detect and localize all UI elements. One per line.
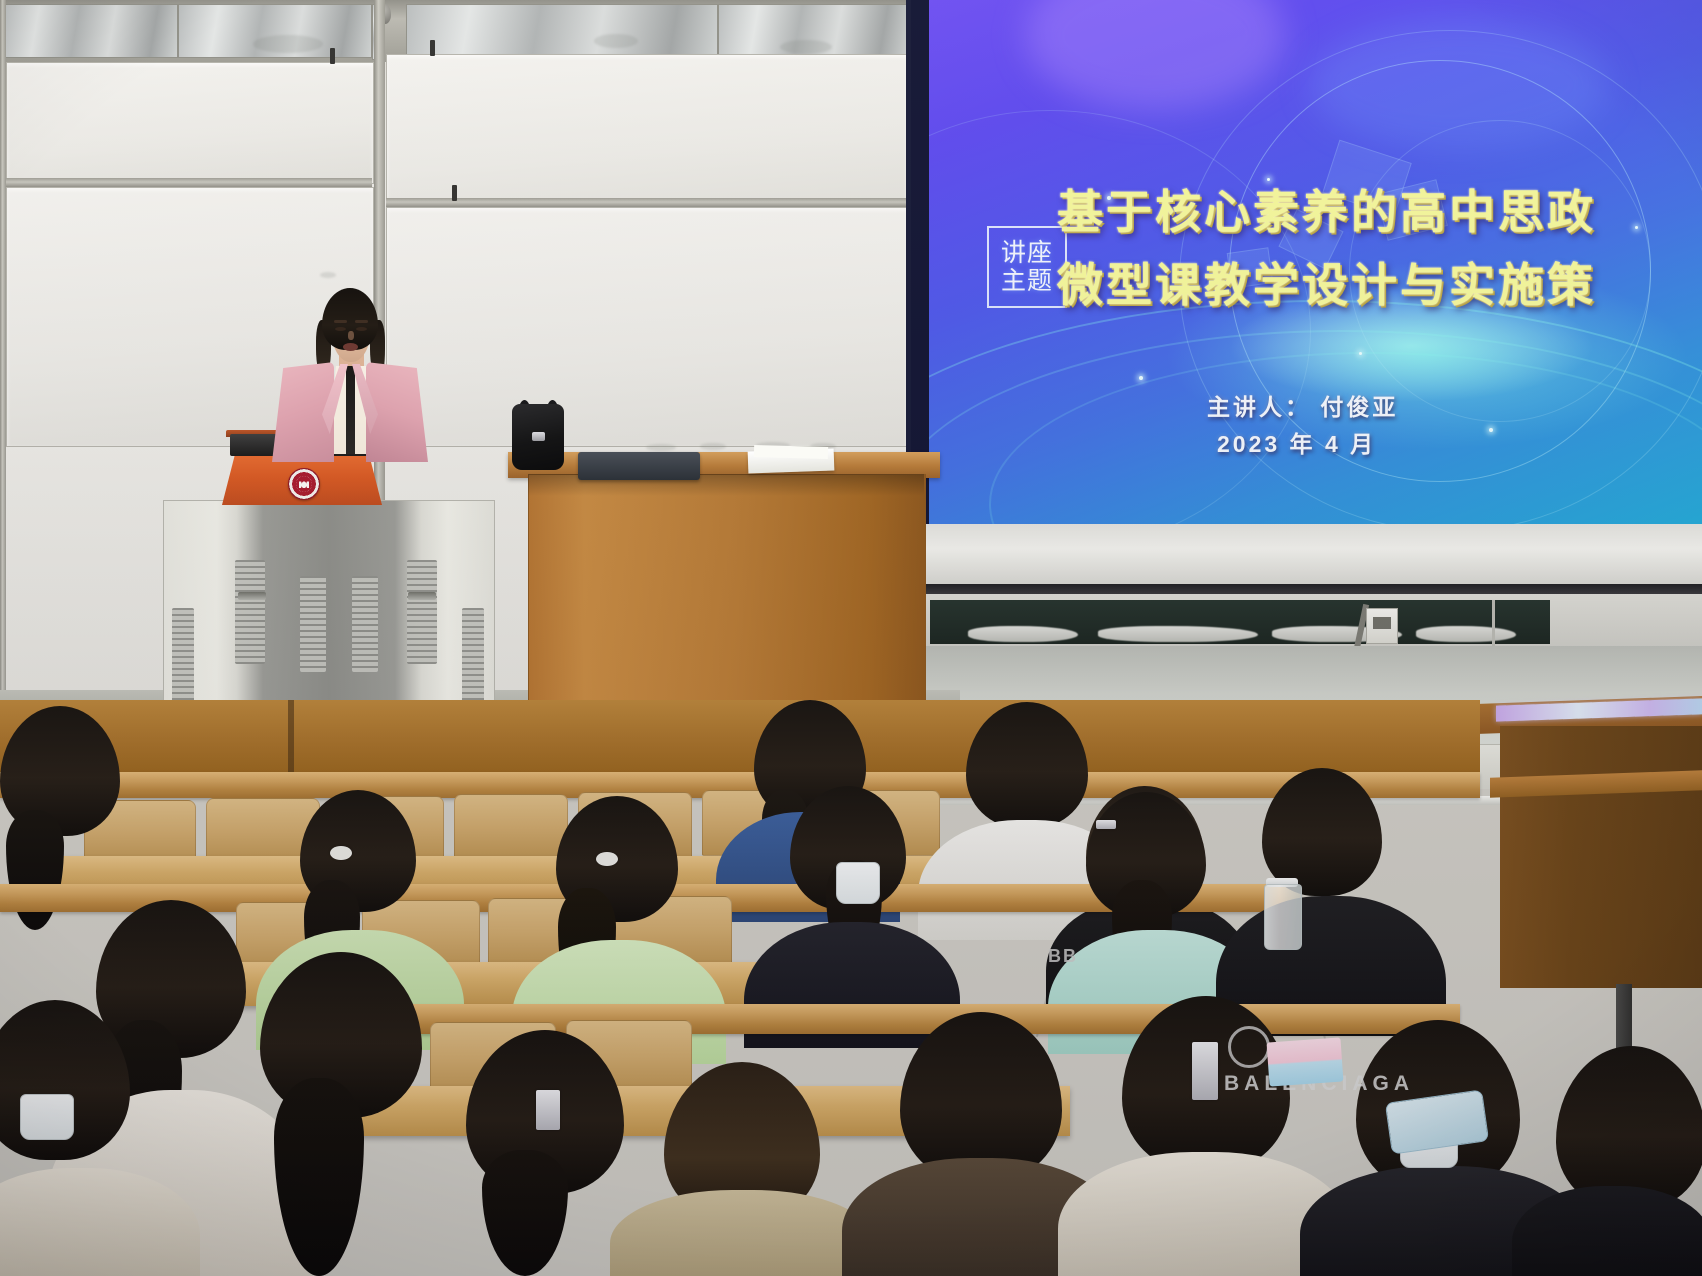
bench-seam <box>288 700 294 772</box>
podium-vent-slots <box>352 576 378 672</box>
face-mask <box>20 1094 74 1140</box>
whiteboard-foil-panel <box>406 4 718 58</box>
hair-clip <box>1192 1042 1218 1100</box>
ledge-debris <box>1098 626 1258 642</box>
podium-vent-slots <box>300 576 326 672</box>
slide-speaker-line: 主讲人： 付俊亚 <box>1207 388 1398 422</box>
handbag-buckle-icon <box>532 432 545 441</box>
lecture-hall-photo: 讲座 主题 基于核心素养的高中思政 微型课教学设计与实施策 主讲人： 付俊亚 2… <box>0 0 1702 1276</box>
hair-scrunchie <box>330 846 352 860</box>
brand-logo-icon <box>1228 1026 1270 1068</box>
hair-clip <box>536 1090 560 1130</box>
wall-socket-icon <box>1366 608 1398 644</box>
hair-scrunchie <box>596 852 618 866</box>
whiteboard-smudge <box>780 40 832 54</box>
topic-badge-line-1: 讲座 <box>1001 239 1053 267</box>
student-ponytail <box>6 810 64 930</box>
slide-sparkle <box>1139 376 1143 380</box>
garment-brand-mark: BB <box>1048 946 1078 967</box>
presenter-eye <box>335 327 346 331</box>
ledge-debris <box>968 626 1078 642</box>
presenter-nose <box>348 331 354 340</box>
slide-glow-blob <box>1025 0 1285 110</box>
podium-vent-slots <box>235 560 265 664</box>
presentation-slide: 讲座 主题 基于核心素养的高中思政 微型课教学设计与实施策 主讲人： 付俊亚 2… <box>929 0 1702 524</box>
whiteboard-panel <box>6 62 374 184</box>
whiteboard-clip-icon <box>430 40 435 56</box>
bench-row-back-wall <box>0 700 1480 782</box>
presenter-eye <box>356 327 367 331</box>
whiteboard-mark <box>646 444 676 451</box>
papers-top-sheet <box>754 445 828 459</box>
bench-seat[interactable] <box>454 794 568 860</box>
water-bottle <box>1264 884 1302 950</box>
projection-screen-frame: 讲座 主题 基于核心素养的高中思政 微型课教学设计与实施策 主讲人： 付俊亚 2… <box>906 0 1702 560</box>
slide-title-line-2: 微型课教学设计与实施策 <box>1057 249 1702 322</box>
presenter-brow <box>355 320 368 323</box>
topic-badge-line-2: 主题 <box>1001 267 1053 295</box>
presenter-brow <box>334 320 347 323</box>
slide-sparkle <box>1489 428 1493 432</box>
side-lectern-body <box>1500 726 1702 988</box>
teacher-desk-body <box>528 474 926 714</box>
whiteboard-smudge <box>594 34 638 48</box>
whiteboard-mark <box>700 443 726 450</box>
whiteboard-smudge <box>320 272 336 278</box>
whiteboard-rail <box>6 178 372 187</box>
slide-topic-badge: 讲座 主题 <box>987 226 1067 308</box>
whiteboard-smudge <box>253 35 323 53</box>
presenter-mouth <box>343 343 358 351</box>
face-mask <box>836 862 880 904</box>
whiteboard-clip-icon <box>452 185 457 201</box>
podium-handle-slot[interactable] <box>238 592 266 600</box>
sticky-notes <box>1267 1037 1344 1086</box>
slide-sparkle <box>1359 352 1362 355</box>
laptop-on-desk <box>578 452 700 480</box>
screen-lower-wall <box>924 524 1702 586</box>
whiteboard-clip-icon <box>330 48 335 64</box>
podium-cabinet <box>163 500 495 720</box>
ledge-debris <box>1416 626 1516 642</box>
presenter-shirt-placket <box>346 366 355 454</box>
whiteboard-panel <box>386 207 908 447</box>
slide-date-line: 2023 年 4 月 <box>1217 425 1376 459</box>
whiteboard-panel <box>386 54 908 204</box>
hair-clip <box>1096 820 1116 829</box>
podium-vent-slots <box>407 560 437 664</box>
whiteboard-foil-panel <box>2 4 178 58</box>
podium-handle-slot[interactable] <box>408 592 436 600</box>
student-ponytail <box>482 1150 568 1276</box>
university-seal-emblem <box>288 468 320 500</box>
whiteboard-rail <box>386 198 906 207</box>
slide-title-line-1: 基于核心素养的高中思政 <box>1057 176 1702 249</box>
slide-title-block: 基于核心素养的高中思政 微型课教学设计与实施策 <box>1057 176 1702 321</box>
student-shoulders <box>610 1190 876 1276</box>
